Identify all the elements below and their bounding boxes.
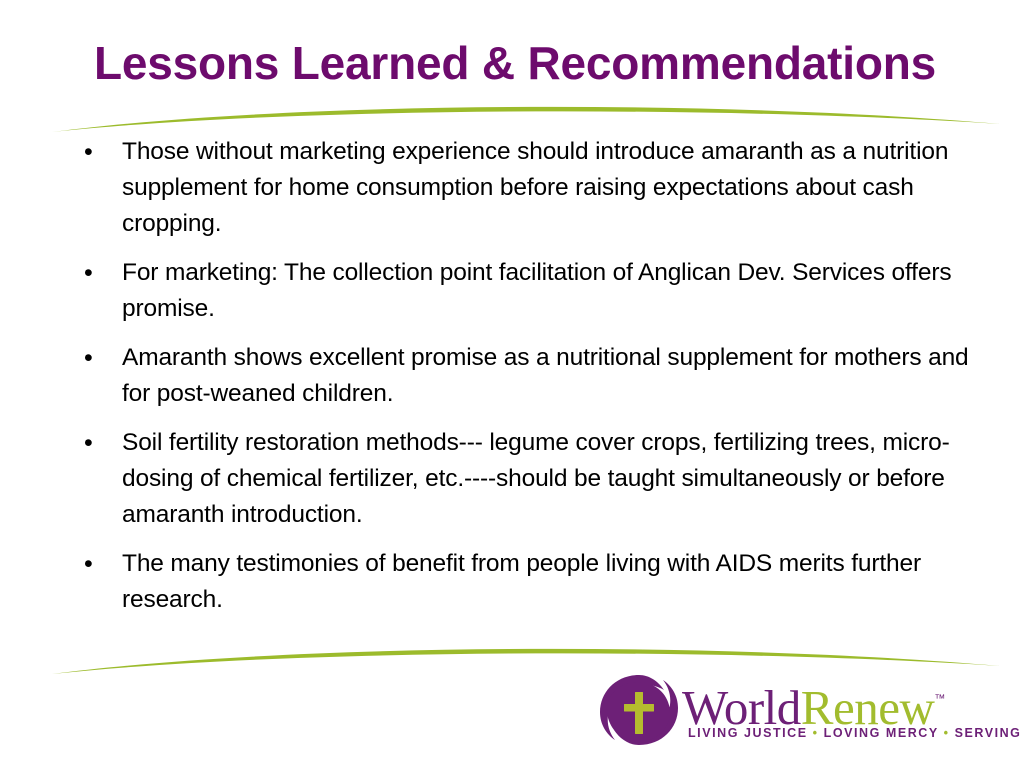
bullet-point-icon: • bbox=[72, 340, 122, 376]
bullet-point-icon: • bbox=[72, 546, 122, 582]
tagline-segment-loving-mercy: LOVING MERCY bbox=[824, 726, 939, 740]
bullet-list: • Those without marketing experience sho… bbox=[72, 134, 972, 631]
list-item-text: For marketing: The collection point faci… bbox=[122, 255, 972, 327]
list-item-text: The many testimonies of benefit from peo… bbox=[122, 546, 972, 618]
tagline-separator-dot-icon: • bbox=[944, 726, 950, 740]
bullet-point-icon: • bbox=[72, 134, 122, 170]
tagline-segment-serving-christ: SERVING CHRIST bbox=[955, 726, 1024, 740]
world-renew-swoosh-cross-icon bbox=[596, 672, 682, 748]
bullet-point-icon: • bbox=[72, 255, 122, 291]
top-divider-arc bbox=[0, 98, 1024, 138]
tagline-segment-living-justice: LIVING JUSTICE bbox=[688, 726, 808, 740]
trademark-symbol: ™ bbox=[934, 693, 945, 705]
page-title: Lessons Learned & Recommendations bbox=[40, 36, 990, 90]
list-item: • For marketing: The collection point fa… bbox=[72, 255, 972, 327]
list-item: • Amaranth shows excellent promise as a … bbox=[72, 340, 972, 412]
bullet-point-icon: • bbox=[72, 425, 122, 461]
list-item-text: Those without marketing experience shoul… bbox=[122, 134, 972, 242]
list-item: • Soil fertility restoration methods--- … bbox=[72, 425, 972, 533]
list-item-text: Amaranth shows excellent promise as a nu… bbox=[122, 340, 972, 412]
list-item-text: Soil fertility restoration methods--- le… bbox=[122, 425, 972, 533]
world-renew-logo: WorldRenew™ LIVING JUSTICE • LOVING MERC… bbox=[596, 670, 1008, 754]
logo-tagline: LIVING JUSTICE • LOVING MERCY • SERVING … bbox=[688, 726, 1024, 740]
tagline-separator-dot-icon: • bbox=[813, 726, 819, 740]
list-item: • The many testimonies of benefit from p… bbox=[72, 546, 972, 618]
presentation-slide: Lessons Learned & Recommendations • Thos… bbox=[0, 0, 1024, 768]
list-item: • Those without marketing experience sho… bbox=[72, 134, 972, 242]
